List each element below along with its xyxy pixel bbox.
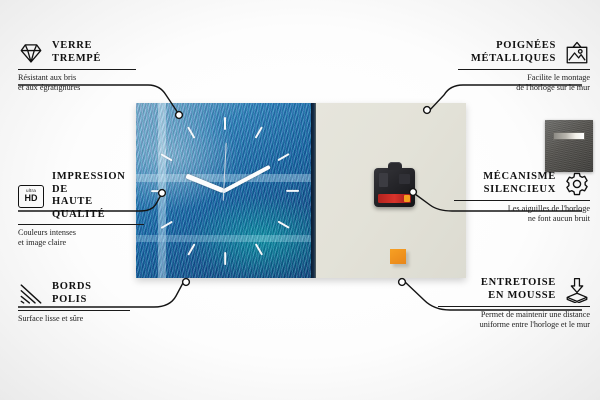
clock-back-panel	[316, 103, 466, 278]
callout-rule	[454, 200, 590, 201]
hour-tick	[254, 243, 262, 255]
connector-endpoint-bords	[183, 279, 190, 286]
callout-bords-polis: BORDS POLIS Surface lisse et sûre	[18, 281, 130, 324]
hour-tick	[187, 243, 195, 255]
mechanism-detail	[399, 174, 410, 184]
ultra-hd-badge-icon: ultra HD	[18, 185, 44, 208]
callout-title: MÉCANISME SILENCIEUX	[483, 171, 556, 196]
callout-rule	[18, 224, 144, 225]
callout-title: ENTRETOISE EN MOUSSE	[481, 277, 556, 302]
hour-tick	[160, 153, 172, 161]
callout-verre-trempe: VERRE TREMPÉ Résistant aux bris et aux é…	[18, 40, 136, 93]
hanging-picture-frame-icon	[564, 40, 590, 66]
clock-hour-hand	[186, 173, 225, 192]
hour-tick	[254, 126, 262, 138]
callout-entretoise-mousse: ENTRETOISE EN MOUSSE Permet de maintenir…	[438, 277, 590, 330]
gear-icon	[564, 171, 590, 197]
polished-edge-lines-icon	[18, 281, 44, 307]
quartz-mechanism	[374, 168, 415, 207]
callout-rule	[18, 310, 130, 311]
callout-description: Permet de maintenir une distance uniform…	[438, 310, 590, 330]
clock-minute-hand	[223, 164, 271, 192]
mechanism-detail	[379, 173, 388, 187]
infographic-canvas: VERRE TREMPÉ Résistant aux bris et aux é…	[0, 0, 600, 400]
metal-hanger-plate	[545, 120, 593, 172]
callout-description: Les aiguilles de l'horloge ne font aucun…	[454, 204, 590, 224]
hour-tick	[160, 220, 172, 228]
callout-rule	[18, 69, 136, 70]
mechanism-hanging-tab	[388, 162, 402, 170]
hanger-keyhole-slot	[553, 132, 585, 140]
hour-tick	[224, 252, 226, 265]
callout-description: Couleurs intenses et image claire	[18, 228, 144, 248]
callout-description: Surface lisse et sûre	[18, 314, 130, 324]
hour-tick	[224, 117, 226, 130]
callout-rule	[438, 306, 590, 307]
battery	[378, 194, 411, 203]
callout-description: Facilite le montage de l'horloge sur le …	[458, 73, 590, 93]
clock-center-cap	[222, 189, 226, 193]
diamond-icon	[18, 40, 44, 66]
callout-mecanisme-silencieux: MÉCANISME SILENCIEUX Les aiguilles de l'…	[454, 171, 590, 224]
hour-tick	[277, 220, 289, 228]
product-photo	[136, 103, 466, 278]
arrow-onto-pad-icon	[564, 277, 590, 303]
clock-dial	[136, 103, 311, 278]
hour-tick	[151, 189, 164, 191]
hour-tick	[286, 189, 299, 191]
hour-tick	[277, 153, 289, 161]
foam-spacer	[390, 249, 406, 264]
callout-impression: ultra HD IMPRESSION DE HAUTE QUALITÉ Cou…	[18, 171, 144, 248]
glass-panel-edge	[311, 103, 316, 278]
callout-title: POIGNÉES MÉTALLIQUES	[471, 40, 556, 65]
connector-endpoint-entretoise	[399, 279, 406, 286]
callout-poignees-metalliques: POIGNÉES MÉTALLIQUES Facilite le montage…	[458, 40, 590, 93]
callout-rule	[458, 69, 590, 70]
callout-title: IMPRESSION DE HAUTE QUALITÉ	[52, 171, 144, 221]
callout-description: Résistant aux bris et aux égratignures	[18, 73, 136, 93]
callout-title: VERRE TREMPÉ	[52, 40, 101, 65]
hour-tick	[187, 126, 195, 138]
clock-front-panel	[136, 103, 311, 278]
badge-big-label: HD	[25, 194, 38, 203]
callout-title: BORDS POLIS	[52, 281, 92, 306]
